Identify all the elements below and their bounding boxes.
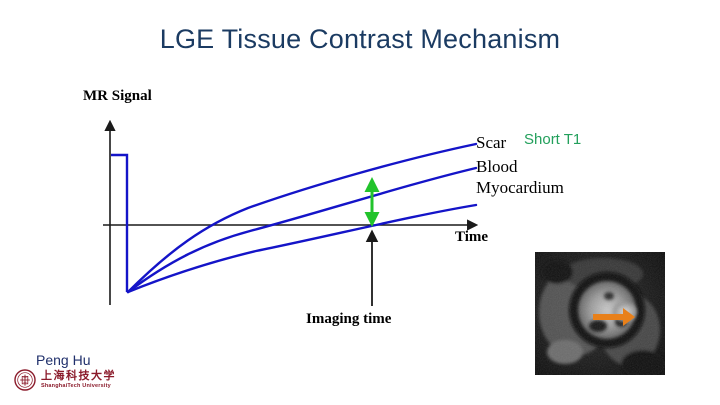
author-name: Peng Hu bbox=[36, 352, 90, 368]
scar-curve bbox=[128, 144, 476, 292]
inversion-pulse-path bbox=[111, 155, 127, 292]
myocardium-curve bbox=[128, 205, 476, 292]
cardiac-lge-mri-image bbox=[535, 252, 665, 375]
slide-canvas: LGE Tissue Contrast Mechanism MR Signal … bbox=[0, 0, 720, 405]
logo-chinese-name: 上海科技大学 bbox=[41, 371, 116, 382]
logo-english-name: ShanghaiTech University bbox=[41, 384, 116, 390]
shanghaitech-logo: 上海科技大学 ShanghaiTech University bbox=[14, 369, 116, 391]
university-seal-icon bbox=[14, 369, 36, 391]
